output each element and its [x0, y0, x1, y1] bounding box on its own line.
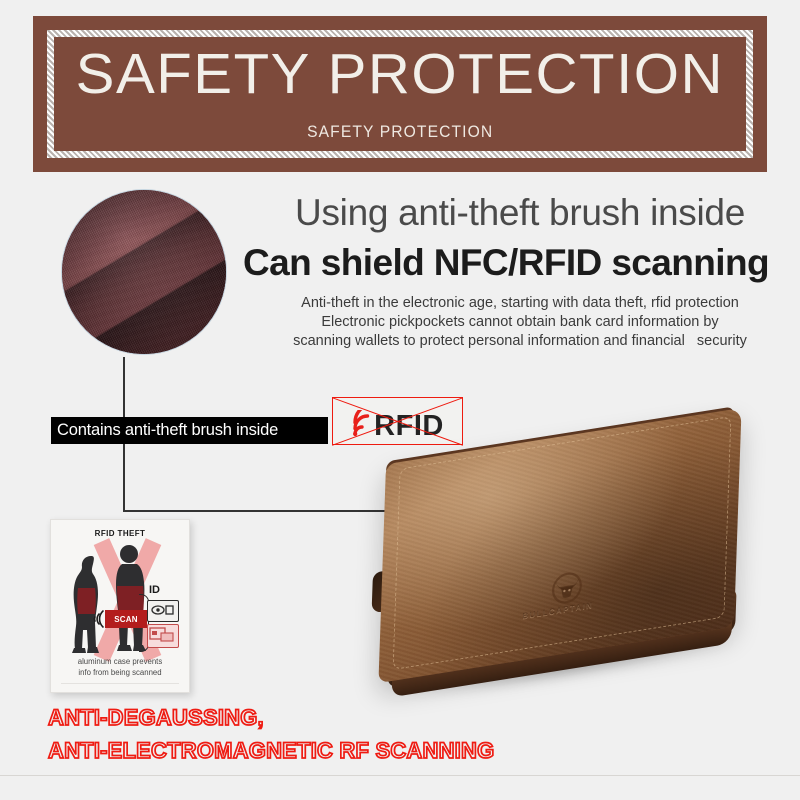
- banner-title: SAFETY PROTECTION: [76, 46, 724, 103]
- theft-card-divider: [61, 683, 179, 684]
- headline-secondary: Can shield NFC/RFID scanning: [226, 242, 786, 284]
- fabric-shading-overlay: [62, 190, 226, 354]
- product-feature-infographic: SAFETY PROTECTION SAFETY PROTECTION Usin…: [0, 0, 800, 800]
- bottom-divider: [0, 775, 800, 776]
- anti-theft-brush-label-text: Contains anti-theft brush inside: [57, 421, 278, 440]
- theft-card-caption: aluminum case prevents info from being s…: [51, 656, 189, 678]
- bottom-headline-line2: ANTI-ELECTROMAGNETIC RF SCANNING: [48, 738, 494, 764]
- id-card-icon: [147, 600, 179, 622]
- body-paragraph: Anti-theft in the electronic age, starti…: [250, 294, 790, 351]
- banner-text-group: SAFETY PROTECTION SAFETY PROTECTION: [54, 37, 746, 151]
- wallet-illustration: BULLCAPTAIN: [350, 420, 770, 710]
- credit-card-icon: [147, 624, 179, 648]
- banner-hatched-border: SAFETY PROTECTION SAFETY PROTECTION: [47, 30, 753, 158]
- banner-subtitle: SAFETY PROTECTION: [307, 122, 493, 142]
- bottom-headline-line1: ANTI-DEGAUSSING,: [48, 705, 264, 731]
- theft-card-title: RFID THEFT: [51, 529, 189, 538]
- header-banner: SAFETY PROTECTION SAFETY PROTECTION: [33, 16, 767, 172]
- fabric-swatch-circle: [62, 190, 226, 354]
- headline-primary: Using anti-theft brush inside: [260, 192, 780, 234]
- scan-waves-icon: [87, 605, 107, 633]
- rfid-theft-info-card: RFID THEFT: [50, 519, 190, 693]
- theft-card-caption-line1: aluminum case prevents: [51, 656, 189, 667]
- scan-badge-text: SCAN: [114, 615, 137, 624]
- theft-card-caption-line2: info from being scanned: [51, 667, 189, 678]
- wallet-product-image: BULLCAPTAIN: [330, 400, 800, 740]
- id-label: ID: [149, 584, 160, 596]
- anti-theft-brush-label: Contains anti-theft brush inside: [51, 417, 328, 444]
